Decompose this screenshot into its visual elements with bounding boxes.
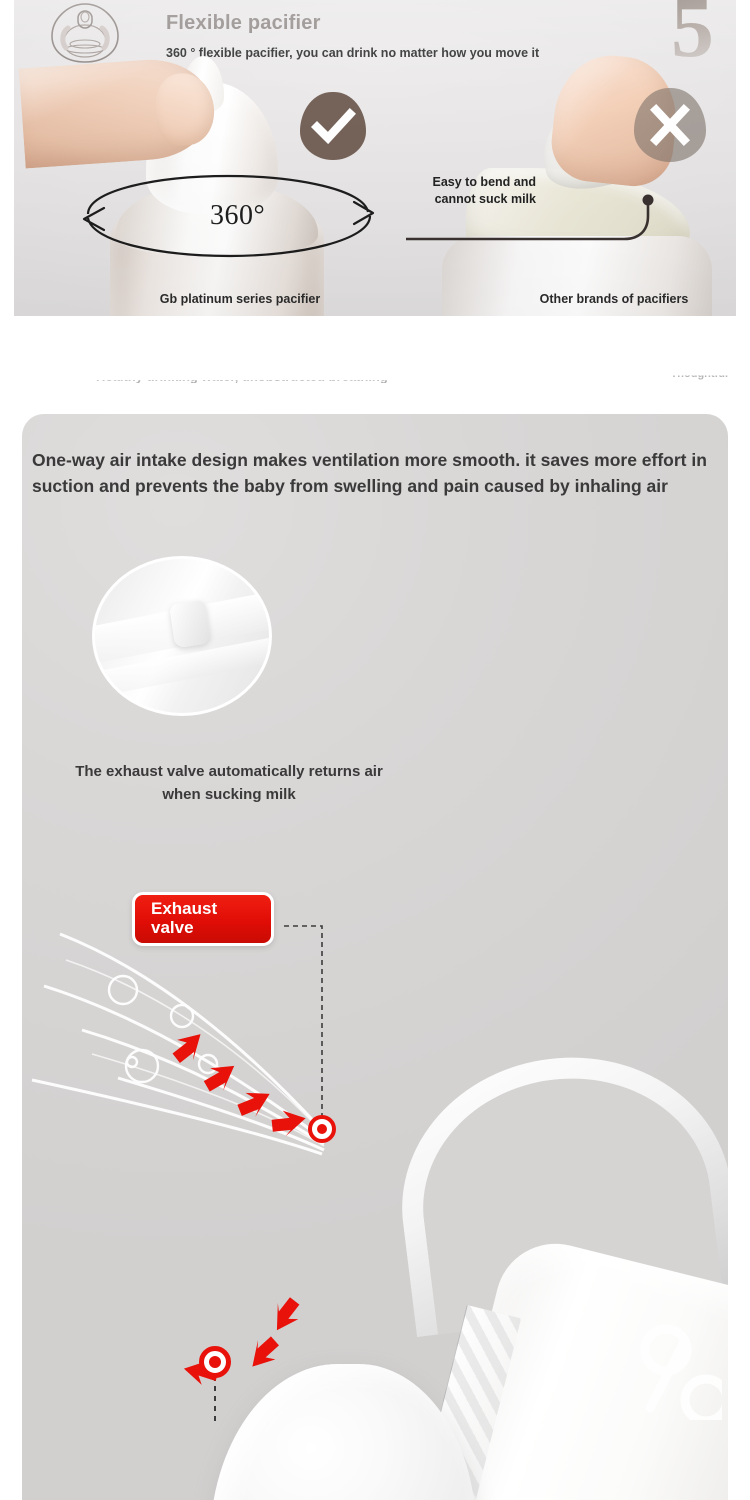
pacifier-outline-icon — [48, 2, 122, 64]
valve-heading: One-way air intake design makes ventilat… — [32, 448, 720, 500]
clipped-side-text: Thoughtful — [671, 368, 728, 380]
leader-line — [402, 182, 672, 246]
page-title: Flexible pacifier — [166, 12, 321, 35]
upper-valve-target — [309, 1116, 335, 1142]
clipped-text-strip: Healthy drinking water, unobstructed bre… — [0, 328, 750, 416]
valve-caption: The exhaust valve automatically returns … — [56, 760, 402, 807]
cross-icon — [634, 88, 706, 162]
rotation-label: 360° — [210, 200, 265, 232]
exhaust-valve-badge: Exhaust valve — [132, 892, 274, 946]
step-number: 5 — [671, 0, 714, 70]
valve-nub — [169, 600, 211, 649]
check-icon — [300, 92, 366, 160]
caption-other-pacifiers: Other brands of pacifiers — [494, 292, 734, 306]
caption-gb-pacifier: Gb platinum series pacifier — [134, 292, 346, 306]
large-nipple — [210, 1364, 476, 1500]
gb-logo — [636, 1322, 722, 1420]
one-way-air-intake-section: One-way air intake design makes ventilat… — [22, 414, 728, 1500]
cross-badge — [634, 88, 706, 162]
flexible-pacifier-section: 5 Flexible pacifier 360 ° flexible pacif… — [14, 0, 736, 316]
product-detail-page: 5 Flexible pacifier 360 ° flexible pacif… — [0, 0, 750, 1500]
pacifier-subtitle: 360 ° flexible pacifier, you can drink n… — [166, 44, 646, 63]
lower-valve-target — [200, 1347, 230, 1377]
valve-closeup-inset — [92, 556, 272, 716]
check-badge — [300, 92, 366, 160]
clipped-headline: Healthy drinking water, unobstructed bre… — [96, 369, 526, 383]
